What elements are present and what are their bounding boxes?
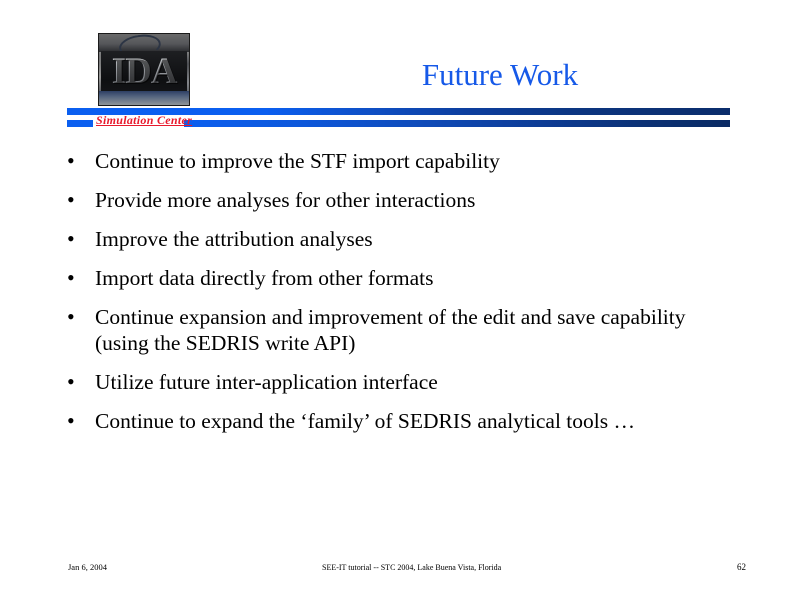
bullet-text: Continue expansion and improvement of th… [95, 304, 744, 356]
bullet-item: •Continue expansion and improvement of t… [64, 304, 744, 356]
bullet-text: Provide more analyses for other interact… [95, 187, 744, 213]
bullet-marker-icon: • [64, 148, 95, 174]
presentation-slide: IDA Future Work Simulation Center •Conti… [0, 0, 800, 600]
bullet-item: •Provide more analyses for other interac… [64, 187, 744, 213]
ida-logo-icon: IDA [98, 33, 190, 106]
footer-event-info: SEE-IT tutorial -- STC 2004, Lake Buena … [322, 563, 501, 572]
bullet-marker-icon: • [64, 369, 95, 395]
bullet-text: Import data directly from other formats [95, 265, 744, 291]
bullet-text: Improve the attribution analyses [95, 226, 744, 252]
slide-footer: Jan 6, 2004 SEE-IT tutorial -- STC 2004,… [0, 550, 800, 600]
logo-letters: IDA [99, 52, 189, 90]
bullet-item: •Improve the attribution analyses [64, 226, 744, 252]
bullet-marker-icon: • [64, 226, 95, 252]
bullet-marker-icon: • [64, 265, 95, 291]
bullet-marker-icon: • [64, 408, 95, 434]
bullet-item: •Continue to improve the STF import capa… [64, 148, 744, 174]
bullet-marker-icon: • [64, 304, 95, 330]
bullet-item: •Import data directly from other formats [64, 265, 744, 291]
bullet-text: Continue to improve the STF import capab… [95, 148, 744, 174]
organization-label: Simulation Center [96, 113, 192, 128]
bullet-text: Continue to expand the ‘family’ of SEDRI… [95, 408, 744, 434]
logo-base [99, 91, 189, 105]
bullet-text: Utilize future inter-application interfa… [95, 369, 744, 395]
bullet-marker-icon: • [64, 187, 95, 213]
slide-title: Future Work [260, 58, 740, 92]
slide-header: IDA Future Work Simulation Center [0, 0, 800, 140]
footer-page-number: 62 [737, 562, 746, 572]
header-rule-bottom-right [184, 120, 730, 127]
bullet-item: •Utilize future inter-application interf… [64, 369, 744, 395]
header-rule-bottom-left [67, 120, 93, 127]
footer-date: Jan 6, 2004 [68, 562, 107, 572]
bullet-item: •Continue to expand the ‘family’ of SEDR… [64, 408, 744, 434]
bullet-list: •Continue to improve the STF import capa… [64, 148, 744, 447]
